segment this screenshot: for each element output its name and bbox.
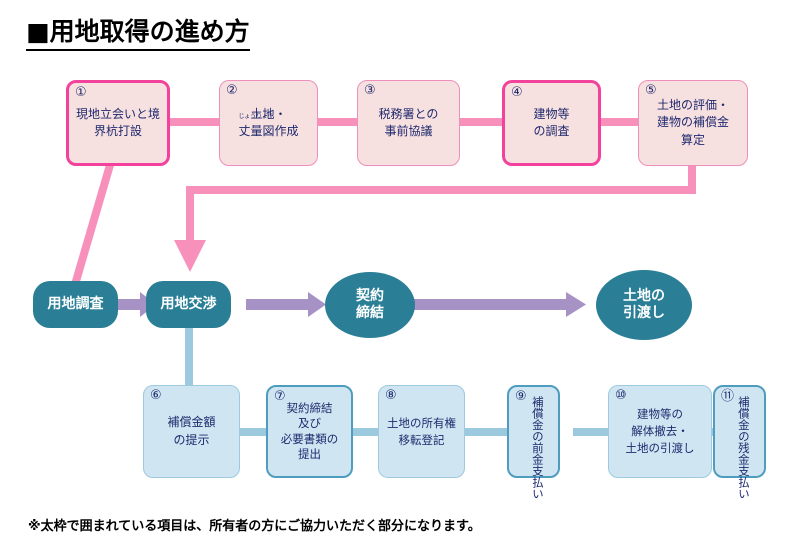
step-2-number: ② — [226, 84, 238, 97]
step-3-label: 税務署との 事前協議 — [375, 106, 443, 141]
footnote-text: ※太枠で囲まれている項目は、所有者の方にご協力いただく部分になります。 — [28, 515, 481, 534]
step-7-box[interactable]: ⑦ 契約締結 及び 必要書類の 提出 — [266, 385, 353, 478]
step-11-box[interactable]: ⑪ 補償金の 残金支払い — [713, 385, 766, 478]
step-6-box[interactable]: ⑥ 補償金額 の提示 — [143, 385, 240, 478]
stage-negotiation-label: 用地交渉 — [161, 296, 217, 314]
stage-handover-label: 土地の 引渡し — [623, 288, 665, 323]
step-10-number: ⑩ — [615, 389, 627, 402]
step-7-number: ⑦ — [274, 390, 286, 403]
step-8-box[interactable]: ⑧ 土地の所有権 移転登記 — [378, 385, 465, 478]
step-2-line-2: 丈量図作成 — [238, 124, 298, 138]
step-8-number: ⑧ — [385, 389, 397, 402]
step-3-box[interactable]: ③ 税務署との 事前協議 — [357, 80, 460, 166]
connector-negotiation-to-step6 — [185, 325, 193, 385]
step-6-label: 補償金額 の提示 — [163, 414, 219, 449]
stage-contract[interactable]: 契約 締結 — [325, 272, 415, 338]
step-4-box[interactable]: ④ 建物等 の調査 — [502, 80, 601, 166]
step-10-box[interactable]: ⑩ 建物等の 解体撤去・ 土地の引渡し — [608, 385, 712, 478]
step-1-label: 現地立会いと境 界杭打設 — [72, 106, 164, 141]
connector-step1-to-survey — [74, 165, 110, 288]
stage-handover[interactable]: 土地の 引渡し — [596, 270, 692, 340]
step-1-number: ① — [75, 86, 87, 99]
arrow-contract-to-handover — [413, 292, 586, 317]
stage-survey-label: 用地調査 — [48, 296, 104, 314]
step-4-number: ④ — [511, 86, 523, 99]
step-1-box[interactable]: ① 現地立会いと境 界杭打設 — [66, 80, 170, 166]
step-9-box[interactable]: ⑨ 補償金の 前金支払い — [507, 385, 560, 478]
step-2-box[interactable]: ② 土地・ じょうりょう丈量図作成 — [219, 80, 318, 166]
stage-negotiation[interactable]: 用地交渉 — [146, 281, 231, 328]
stage-contract-label: 契約 締結 — [356, 288, 384, 323]
step-9-label: 補償金の 前金支払い — [529, 396, 546, 468]
step-4-label: 建物等 の調査 — [529, 106, 573, 141]
step-5-box[interactable]: ⑤ 土地の評価・ 建物の補償金 算定 — [638, 80, 748, 166]
step-2-ruby: じょうりょう — [238, 114, 273, 120]
step-8-label: 土地の所有権 移転登記 — [383, 415, 460, 448]
step-11-label: 補償金の 残金支払い — [735, 396, 752, 468]
step-2-label: 土地・ じょうりょう丈量図作成 — [234, 106, 302, 141]
step-11-number: ⑪ — [721, 390, 734, 403]
arrow-negotiation-to-contract — [246, 292, 326, 317]
step-6-number: ⑥ — [150, 389, 162, 402]
step-5-number: ⑤ — [645, 84, 657, 97]
step-3-number: ③ — [364, 84, 376, 97]
connector-step5-to-negotiation — [174, 166, 692, 272]
step-7-label: 契約締結 及び 必要書類の 提出 — [277, 401, 343, 462]
step-2-ruby-wrap: じょうりょう丈量図作成 — [238, 123, 298, 140]
step-9-number: ⑨ — [515, 390, 527, 403]
step-5-label: 土地の評価・ 建物の補償金 算定 — [653, 97, 733, 149]
step-10-label: 建物等の 解体撤去・ 土地の引渡し — [622, 406, 699, 456]
stage-survey[interactable]: 用地調査 — [33, 281, 118, 328]
